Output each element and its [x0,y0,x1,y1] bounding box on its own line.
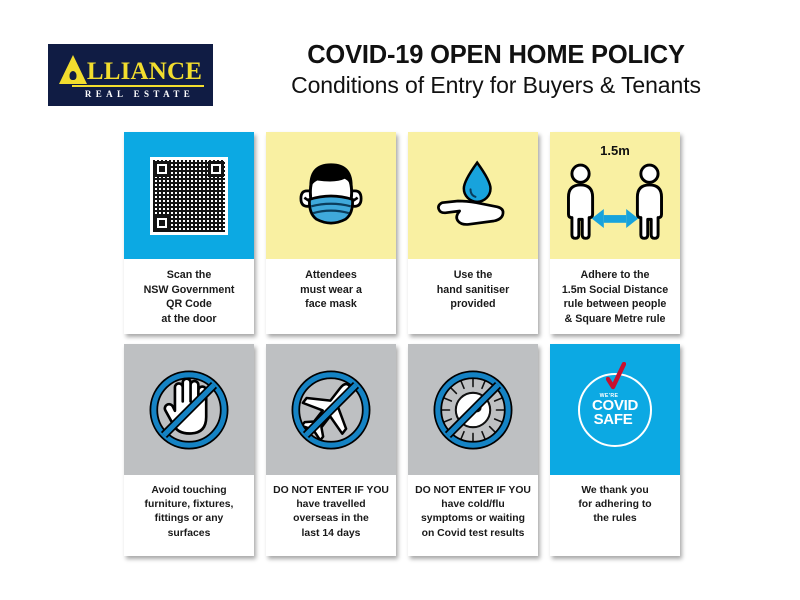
policy-card-no-overseas-travel: DO NOT ENTER IF YOUhave travelledoversea… [266,344,396,556]
policy-card-no-touching: Avoid touchingfurniture, fixtures,fittin… [124,344,254,556]
page-title: COVID-19 OPEN HOME POLICY [236,40,756,70]
card-icon-panel [124,132,254,259]
qr-code-icon [150,157,228,235]
card-caption: DO NOT ENTER IF YOUhave cold/flusymptoms… [412,484,534,541]
logo-tagline: REAL ESTATE [85,89,194,99]
card-icon-panel: 1.5m [550,132,680,259]
distance-label: 1.5m [600,143,630,158]
poster-header: LLIANCE REAL ESTATE COVID-19 OPEN HOME P… [0,40,800,112]
social-distance-icon [559,161,671,245]
title-block: COVID-19 OPEN HOME POLICY Conditions of … [236,40,756,100]
card-caption: We thank youfor adhering tothe rules [575,484,654,527]
card-caption: Use thehand sanitiserprovided [434,268,512,312]
card-text-panel: Use thehand sanitiserprovided [408,259,538,334]
policy-card-qr-code: Scan theNSW GovernmentQR Codeat the door [124,132,254,334]
card-text-panel: Scan theNSW GovernmentQR Codeat the door [124,259,254,334]
card-icon-panel [408,344,538,475]
covid-safe-badge-icon: WE'RE COVID SAFE [578,373,652,447]
card-icon-panel: WE'RE COVID SAFE [550,344,680,475]
card-caption: Scan theNSW GovernmentQR Codeat the door [141,268,238,326]
card-caption: Attendeesmust wear aface mask [297,268,365,312]
double-arrow-icon [592,209,639,228]
alliance-real-estate-logo: LLIANCE REAL ESTATE [48,44,213,106]
logo-brand-text: LLIANCE [87,59,202,84]
no-touching-hand-icon [146,367,232,453]
card-text-panel: Adhere to the1.5m Social Distancerule be… [550,259,680,334]
card-icon-panel [408,132,538,259]
card-icon-panel [124,344,254,475]
card-text-panel: DO NOT ENTER IF YOUhave cold/flusymptoms… [408,475,538,556]
hand-sanitiser-icon [427,156,519,236]
badge-line-safe: SAFE [594,413,633,427]
logo-a-roof-icon [59,55,87,84]
red-checkmark-icon [606,362,626,392]
logo-wordmark: LLIANCE [59,54,202,84]
card-text-panel: DO NOT ENTER IF YOUhave travelledoversea… [266,475,396,556]
policy-card-no-symptoms: DO NOT ENTER IF YOUhave cold/flusymptoms… [408,344,538,556]
policy-card-social-distance: 1.5m Adhere to the1.5m [550,132,680,334]
card-caption: Adhere to the1.5m Social Distancerule be… [559,268,671,326]
no-virus-icon [430,367,516,453]
card-icon-panel [266,132,396,259]
card-caption: Avoid touchingfurniture, fixtures,fittin… [142,484,237,541]
page-subtitle: Conditions of Entry for Buyers & Tenants [236,70,756,100]
logo-divider-rule [72,85,204,87]
card-icon-panel [266,344,396,475]
card-text-panel: We thank youfor adhering tothe rules [550,475,680,556]
policy-card-hand-sanitiser: Use thehand sanitiserprovided [408,132,538,334]
badge-line-covid: COVID [592,399,638,413]
card-text-panel: Avoid touchingfurniture, fixtures,fittin… [124,475,254,556]
no-airplane-icon [288,367,374,453]
policy-card-grid: Scan theNSW GovernmentQR Codeat the door [124,132,680,556]
card-text-panel: Attendeesmust wear aface mask [266,259,396,334]
card-caption: DO NOT ENTER IF YOUhave travelledoversea… [270,484,392,541]
policy-card-thank-you: WE'RE COVID SAFE We thank youfor adherin… [550,344,680,556]
policy-card-face-mask: Attendeesmust wear aface mask [266,132,396,334]
face-mask-icon [288,153,374,239]
covid-policy-poster: LLIANCE REAL ESTATE COVID-19 OPEN HOME P… [0,0,800,600]
